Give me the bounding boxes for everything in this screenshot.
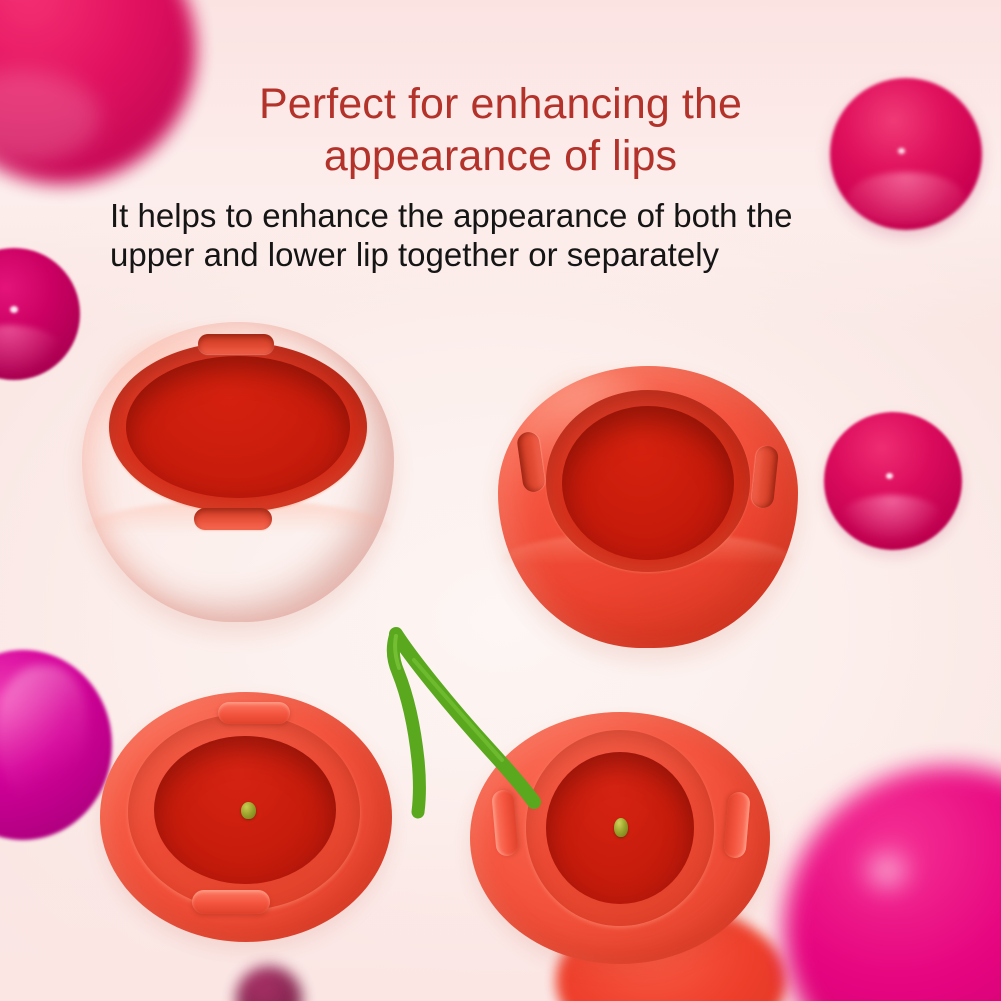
cherry-lobe bbox=[838, 495, 946, 545]
cherry-highlight bbox=[886, 473, 893, 479]
product-cup-bottom-left[interactable] bbox=[100, 692, 392, 942]
cup-slot-top bbox=[198, 334, 274, 354]
page-subtitle: It helps to enhance the appearance of bo… bbox=[0, 196, 1001, 274]
cherry-lobe bbox=[0, 665, 87, 798]
page-title: Perfect for enhancing theappearance of l… bbox=[181, 78, 821, 182]
cherry-lobe bbox=[0, 325, 62, 375]
cherry-stem-icon bbox=[352, 612, 572, 827]
text-block: Perfect for enhancing theappearance of l… bbox=[0, 78, 1001, 274]
cherry-highlight bbox=[870, 858, 904, 884]
product-cup-top-right[interactable] bbox=[498, 366, 798, 648]
subhead-line-2: upper and lower lip together or separate… bbox=[110, 236, 719, 273]
cup-cavity bbox=[562, 406, 734, 560]
subhead-line-1: It helps to enhance the appearance of bo… bbox=[110, 197, 793, 234]
cup-stem-nub-icon bbox=[241, 802, 256, 819]
headline-line-1: Perfect for enhancing the bbox=[259, 80, 742, 128]
cup-tab-bottom bbox=[192, 890, 270, 914]
cup-stem-nub-icon bbox=[614, 818, 628, 837]
product-cup-top-left[interactable] bbox=[82, 322, 394, 622]
headline-line-2: appearance of lips bbox=[324, 132, 677, 180]
cherry-right-middle-icon bbox=[824, 412, 962, 550]
cherry-highlight bbox=[10, 306, 18, 313]
stem-highlight-2 bbox=[414, 660, 502, 760]
product-banner: Perfect for enhancing theappearance of l… bbox=[0, 0, 1001, 1001]
cup-tab-top bbox=[218, 702, 290, 724]
cup-slot-bottom bbox=[194, 508, 272, 530]
cup-cavity bbox=[126, 356, 350, 498]
